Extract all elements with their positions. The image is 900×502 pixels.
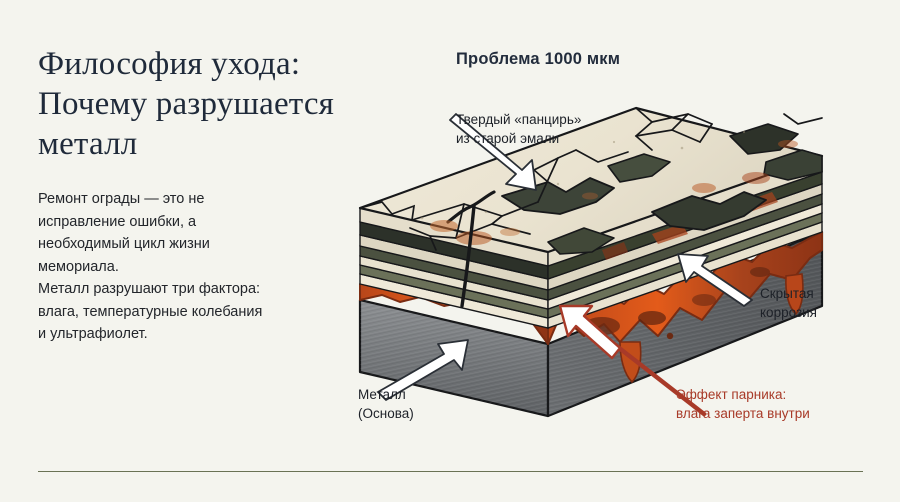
callout-corrosion: Скрытая коррозия bbox=[760, 284, 817, 322]
section-heading: Проблема 1000 мкм bbox=[456, 50, 620, 69]
callout-enamel: Твердый «панцирь» из старой эмали bbox=[456, 110, 581, 148]
footer-divider bbox=[38, 471, 863, 472]
callout-greenhouse: Эффект парника: влага заперта внутри bbox=[676, 385, 810, 423]
cross-section-diagram bbox=[352, 92, 882, 432]
slide-canvas: Философия ухода: Почему разрушается мета… bbox=[0, 0, 900, 502]
callout-metal: Металл (Основа) bbox=[358, 385, 414, 423]
